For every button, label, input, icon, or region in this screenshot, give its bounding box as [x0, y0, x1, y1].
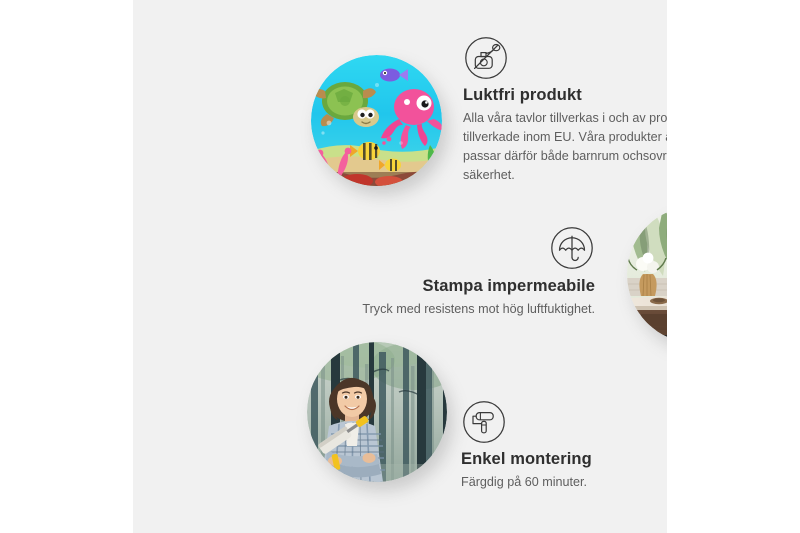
paint-roller-icon-svg — [462, 400, 506, 444]
umbrella-icon-svg — [550, 226, 594, 270]
feature-block-odourless: Luktfri produkt Alla våra tavlor tillver… — [463, 36, 667, 185]
feature-description: Alla våra tavlor tillverkas i och av pro… — [463, 109, 667, 186]
infographic-page: Luktfri produkt Alla våra tavlor tillver… — [0, 0, 800, 533]
feature-title: Stampa impermeabile — [333, 276, 595, 297]
photo-1-inner — [311, 55, 442, 186]
underwater-kids-mural-photo — [311, 55, 442, 186]
installer-forest-illustration — [307, 342, 447, 482]
photo-3-inner — [307, 342, 447, 482]
feature-block-easy-installation: Enkel montering Färgdig på 60 minuter. — [461, 400, 667, 492]
feature-description: Tryck med resistens mot hög luftfuktighe… — [333, 300, 595, 319]
bathroom-interior-illustration — [627, 206, 667, 343]
photo-2-inner — [627, 206, 667, 343]
umbrella-icon — [550, 226, 594, 270]
feature-title: Luktfri produkt — [463, 85, 667, 106]
bathroom-tropical-wallpaper-photo — [627, 206, 667, 343]
infographic-canvas: Luktfri produkt Alla våra tavlor tillver… — [133, 0, 667, 533]
woman-paint-roller-forest-photo — [307, 342, 447, 482]
feature-description: Färgdig på 60 minuter. — [461, 473, 667, 492]
no-fragrance-icon-svg — [464, 36, 508, 80]
feature-title: Enkel montering — [461, 449, 667, 470]
feature-block-waterproof-print: Stampa impermeabile Tryck med resistens … — [333, 226, 595, 319]
no-fragrance-icon — [464, 36, 508, 80]
underwater-scene-illustration — [311, 55, 442, 186]
paint-roller-icon — [462, 400, 506, 444]
